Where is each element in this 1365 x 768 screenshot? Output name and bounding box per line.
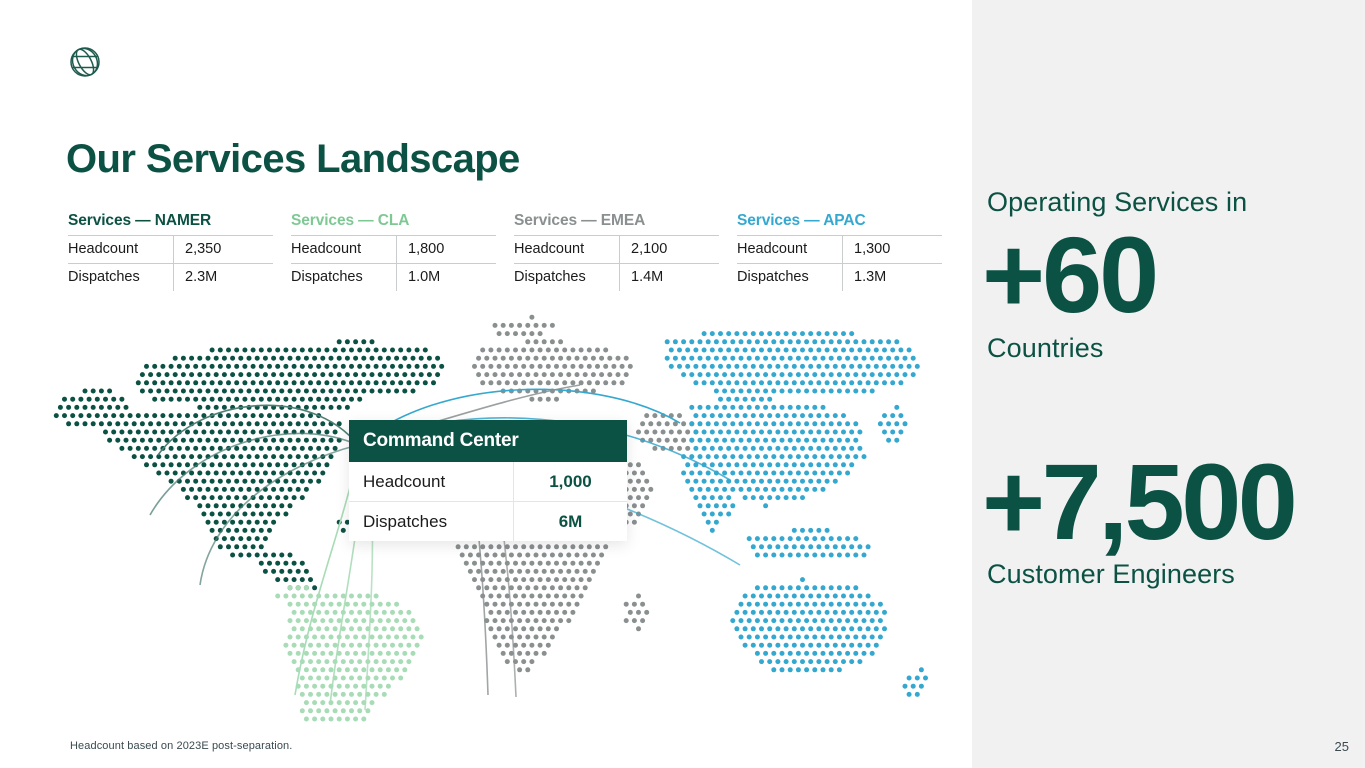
row-value: 1.3M <box>843 264 886 291</box>
row-label: Dispatches <box>737 264 843 291</box>
row-label: Dispatches <box>291 264 397 291</box>
row-value: 1.4M <box>620 264 663 291</box>
row-label: Headcount <box>291 236 397 263</box>
region-rows: Headcount 2,100 Dispatches 1.4M <box>514 235 719 291</box>
map-region-cla <box>275 585 424 721</box>
row-label: Dispatches <box>514 264 620 291</box>
row-label: Headcount <box>68 236 174 263</box>
table-row: Dispatches 2.3M <box>68 264 273 291</box>
page-number: 25 <box>1335 739 1349 754</box>
region-table-apac: Services — APAC Headcount 1,300 Dispatch… <box>737 212 942 291</box>
table-row: Dispatches 1.3M <box>737 264 942 291</box>
table-row: Headcount 1,800 <box>291 236 496 264</box>
stat-engineers: +7,500 Customer Engineers <box>987 445 1357 590</box>
row-label: Headcount <box>349 462 514 501</box>
row-label: Dispatches <box>349 502 514 541</box>
map-region-apac <box>665 331 928 697</box>
stat-sublabel: Customer Engineers <box>987 559 1357 590</box>
command-center-card[interactable]: Command Center Headcount 1,000 Dispatche… <box>349 420 627 541</box>
table-row: Headcount 2,100 <box>514 236 719 264</box>
region-title: Services — EMEA <box>514 212 719 235</box>
stat-value: +60 <box>982 220 1357 330</box>
row-value: 1.0M <box>397 264 440 291</box>
table-row: Dispatches 1.4M <box>514 264 719 291</box>
row-label: Dispatches <box>68 264 174 291</box>
page-title: Our Services Landscape <box>66 137 520 181</box>
slide-root: Our Services Landscape Services — NAMER … <box>0 0 1365 768</box>
region-rows: Headcount 1,300 Dispatches 1.3M <box>737 235 942 291</box>
footnote: Headcount based on 2023E post-separation… <box>70 740 292 752</box>
region-title: Services — APAC <box>737 212 942 235</box>
side-stats-panel: Operating Services in +60 Countries +7,5… <box>972 0 1365 768</box>
row-value: 2,350 <box>174 236 221 263</box>
row-value: 6M <box>514 512 627 532</box>
region-title: Services — NAMER <box>68 212 273 235</box>
region-table-cla: Services — CLA Headcount 1,800 Dispatche… <box>291 212 496 291</box>
command-center-row: Dispatches 6M <box>349 502 627 541</box>
table-row: Dispatches 1.0M <box>291 264 496 291</box>
region-rows: Headcount 2,350 Dispatches 2.3M <box>68 235 273 291</box>
globe-logo-icon <box>68 45 102 79</box>
region-metrics-tables: Services — NAMER Headcount 2,350 Dispatc… <box>68 212 948 291</box>
row-value: 2,100 <box>620 236 667 263</box>
row-value: 2.3M <box>174 264 217 291</box>
region-rows: Headcount 1,800 Dispatches 1.0M <box>291 235 496 291</box>
row-label: Headcount <box>737 236 843 263</box>
command-center-row: Headcount 1,000 <box>349 462 627 502</box>
stat-value: +7,500 <box>982 447 1357 557</box>
region-title: Services — CLA <box>291 212 496 235</box>
row-label: Headcount <box>514 236 620 263</box>
region-table-emea: Services — EMEA Headcount 2,100 Dispatch… <box>514 212 719 291</box>
region-table-namer: Services — NAMER Headcount 2,350 Dispatc… <box>68 212 273 291</box>
stat-countries: Operating Services in +60 Countries <box>987 186 1357 364</box>
row-value: 1,000 <box>514 472 627 492</box>
row-value: 1,800 <box>397 236 444 263</box>
command-center-title: Command Center <box>349 420 627 462</box>
stat-sublabel: Countries <box>987 333 1357 364</box>
table-row: Headcount 2,350 <box>68 236 273 264</box>
table-row: Headcount 1,300 <box>737 236 942 264</box>
row-value: 1,300 <box>843 236 890 263</box>
